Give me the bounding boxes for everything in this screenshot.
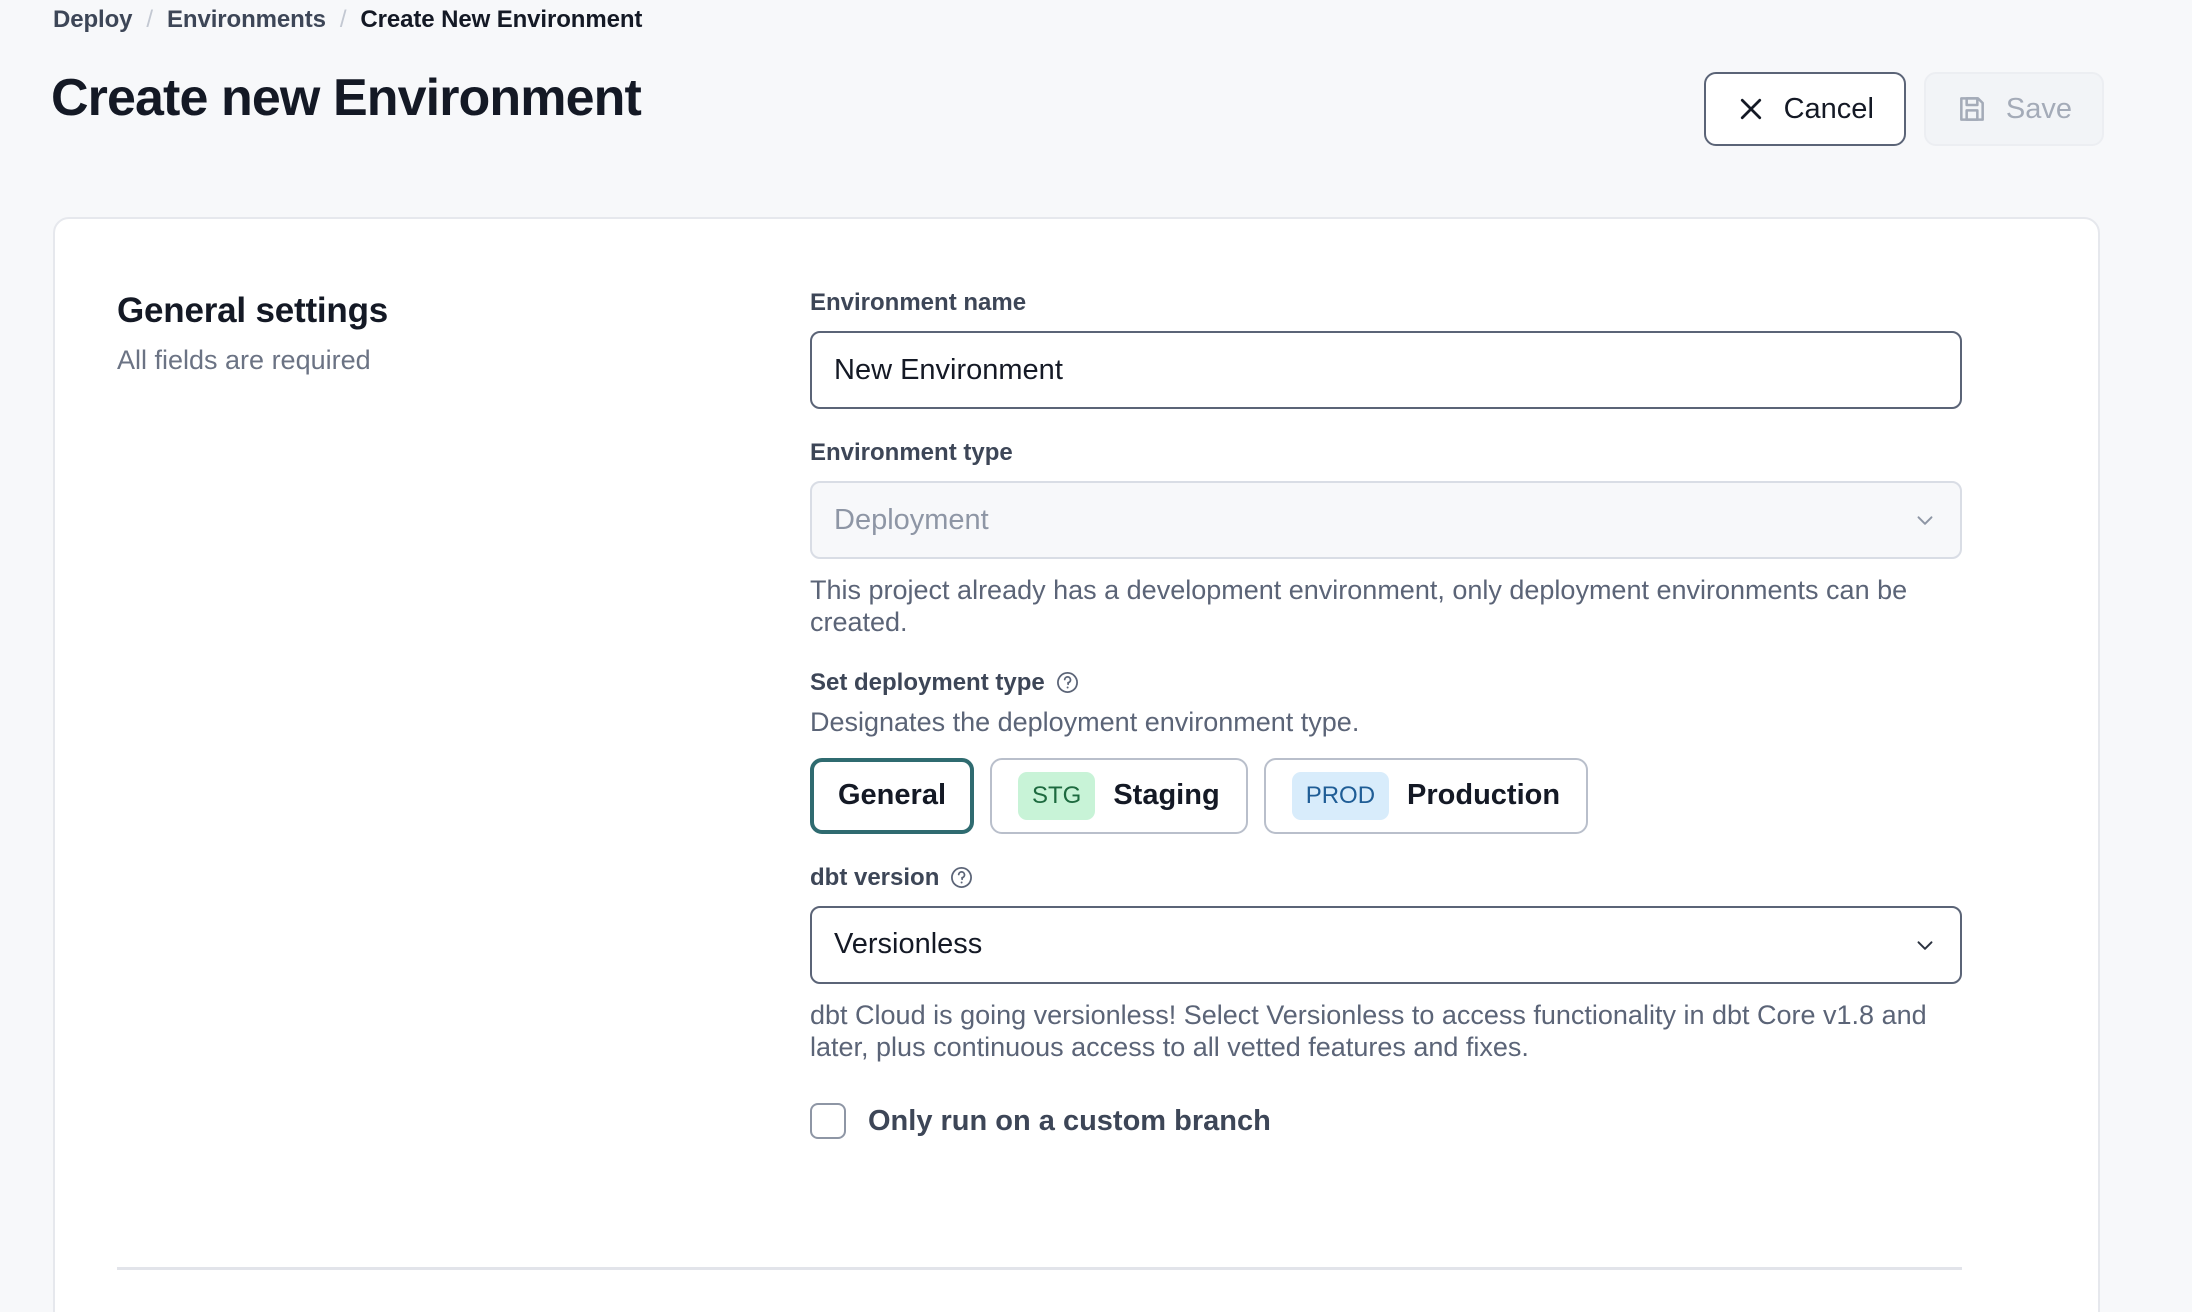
chevron-down-icon [1912, 932, 1938, 958]
section-title: General settings [117, 291, 757, 331]
custom-branch-label: Only run on a custom branch [868, 1105, 1271, 1138]
page-header: Create new Environment Cancel [0, 56, 2192, 161]
breadcrumb-separator: / [146, 6, 153, 34]
save-floppy-icon [1956, 93, 1988, 125]
environment-type-label: Environment type [810, 439, 1962, 467]
dbt-version-select[interactable]: Versionless [810, 906, 1962, 984]
header-actions: Cancel Save [1704, 72, 2104, 146]
deployment-type-label: Set deployment type [810, 669, 1962, 697]
custom-branch-row[interactable]: Only run on a custom branch [810, 1103, 1962, 1139]
dbt-version-hint: dbt Cloud is going versionless! Select V… [810, 1000, 1962, 1064]
chevron-down-icon [1912, 507, 1938, 533]
field-deployment-type: Set deployment type Designates the deplo… [810, 669, 1962, 834]
field-environment-type: Environment type Deployment This project… [810, 439, 1962, 639]
help-circle-icon[interactable] [949, 865, 974, 890]
breadcrumb-item-deploy[interactable]: Deploy [53, 6, 132, 34]
deployment-type-label-text: Set deployment type [810, 669, 1045, 697]
dbt-version-value: Versionless [834, 928, 982, 961]
field-environment-name: Environment name New Environment [810, 289, 1962, 409]
environment-name-value: New Environment [834, 354, 1063, 387]
environment-name-input[interactable]: New Environment [810, 331, 1962, 409]
breadcrumb-item-current: Create New Environment [360, 6, 642, 34]
environment-type-hint: This project already has a development e… [810, 575, 1962, 639]
create-environment-page: Deploy / Environments / Create New Envir… [0, 0, 2192, 1312]
cancel-button[interactable]: Cancel [1704, 72, 1906, 146]
deployment-option-production[interactable]: PROD Production [1264, 758, 1588, 834]
deployment-type-description: Designates the deployment environment ty… [810, 707, 1962, 738]
dbt-version-label-text: dbt version [810, 864, 939, 892]
close-icon [1736, 94, 1766, 124]
environment-name-label: Environment name [810, 289, 1962, 317]
custom-branch-checkbox[interactable] [810, 1103, 846, 1139]
breadcrumb: Deploy / Environments / Create New Envir… [53, 6, 642, 34]
page-title: Create new Environment [51, 68, 641, 128]
general-settings-card: General settings All fields are required… [53, 217, 2100, 1312]
save-button-label: Save [2006, 93, 2072, 126]
form-column: Environment name New Environment Environ… [810, 289, 1962, 1139]
breadcrumb-separator: / [340, 6, 347, 34]
section-divider [117, 1267, 1962, 1270]
section-header: General settings All fields are required [117, 291, 757, 376]
production-badge: PROD [1292, 772, 1389, 820]
environment-type-value: Deployment [834, 504, 989, 537]
dbt-version-label: dbt version [810, 864, 1962, 892]
deployment-option-general-label: General [838, 779, 946, 812]
deployment-option-staging[interactable]: STG Staging [990, 758, 1248, 834]
environment-type-select[interactable]: Deployment [810, 481, 1962, 559]
deployment-option-general[interactable]: General [810, 758, 974, 834]
deployment-type-options: General STG Staging PROD Production [810, 758, 1962, 834]
help-circle-icon[interactable] [1055, 670, 1080, 695]
cancel-button-label: Cancel [1784, 93, 1874, 126]
save-button[interactable]: Save [1924, 72, 2104, 146]
staging-badge: STG [1018, 772, 1095, 820]
breadcrumb-item-environments[interactable]: Environments [167, 6, 326, 34]
section-subtitle: All fields are required [117, 345, 757, 376]
field-dbt-version: dbt version Versionless [810, 864, 1962, 1064]
deployment-option-production-label: Production [1407, 779, 1560, 812]
deployment-option-staging-label: Staging [1113, 779, 1219, 812]
